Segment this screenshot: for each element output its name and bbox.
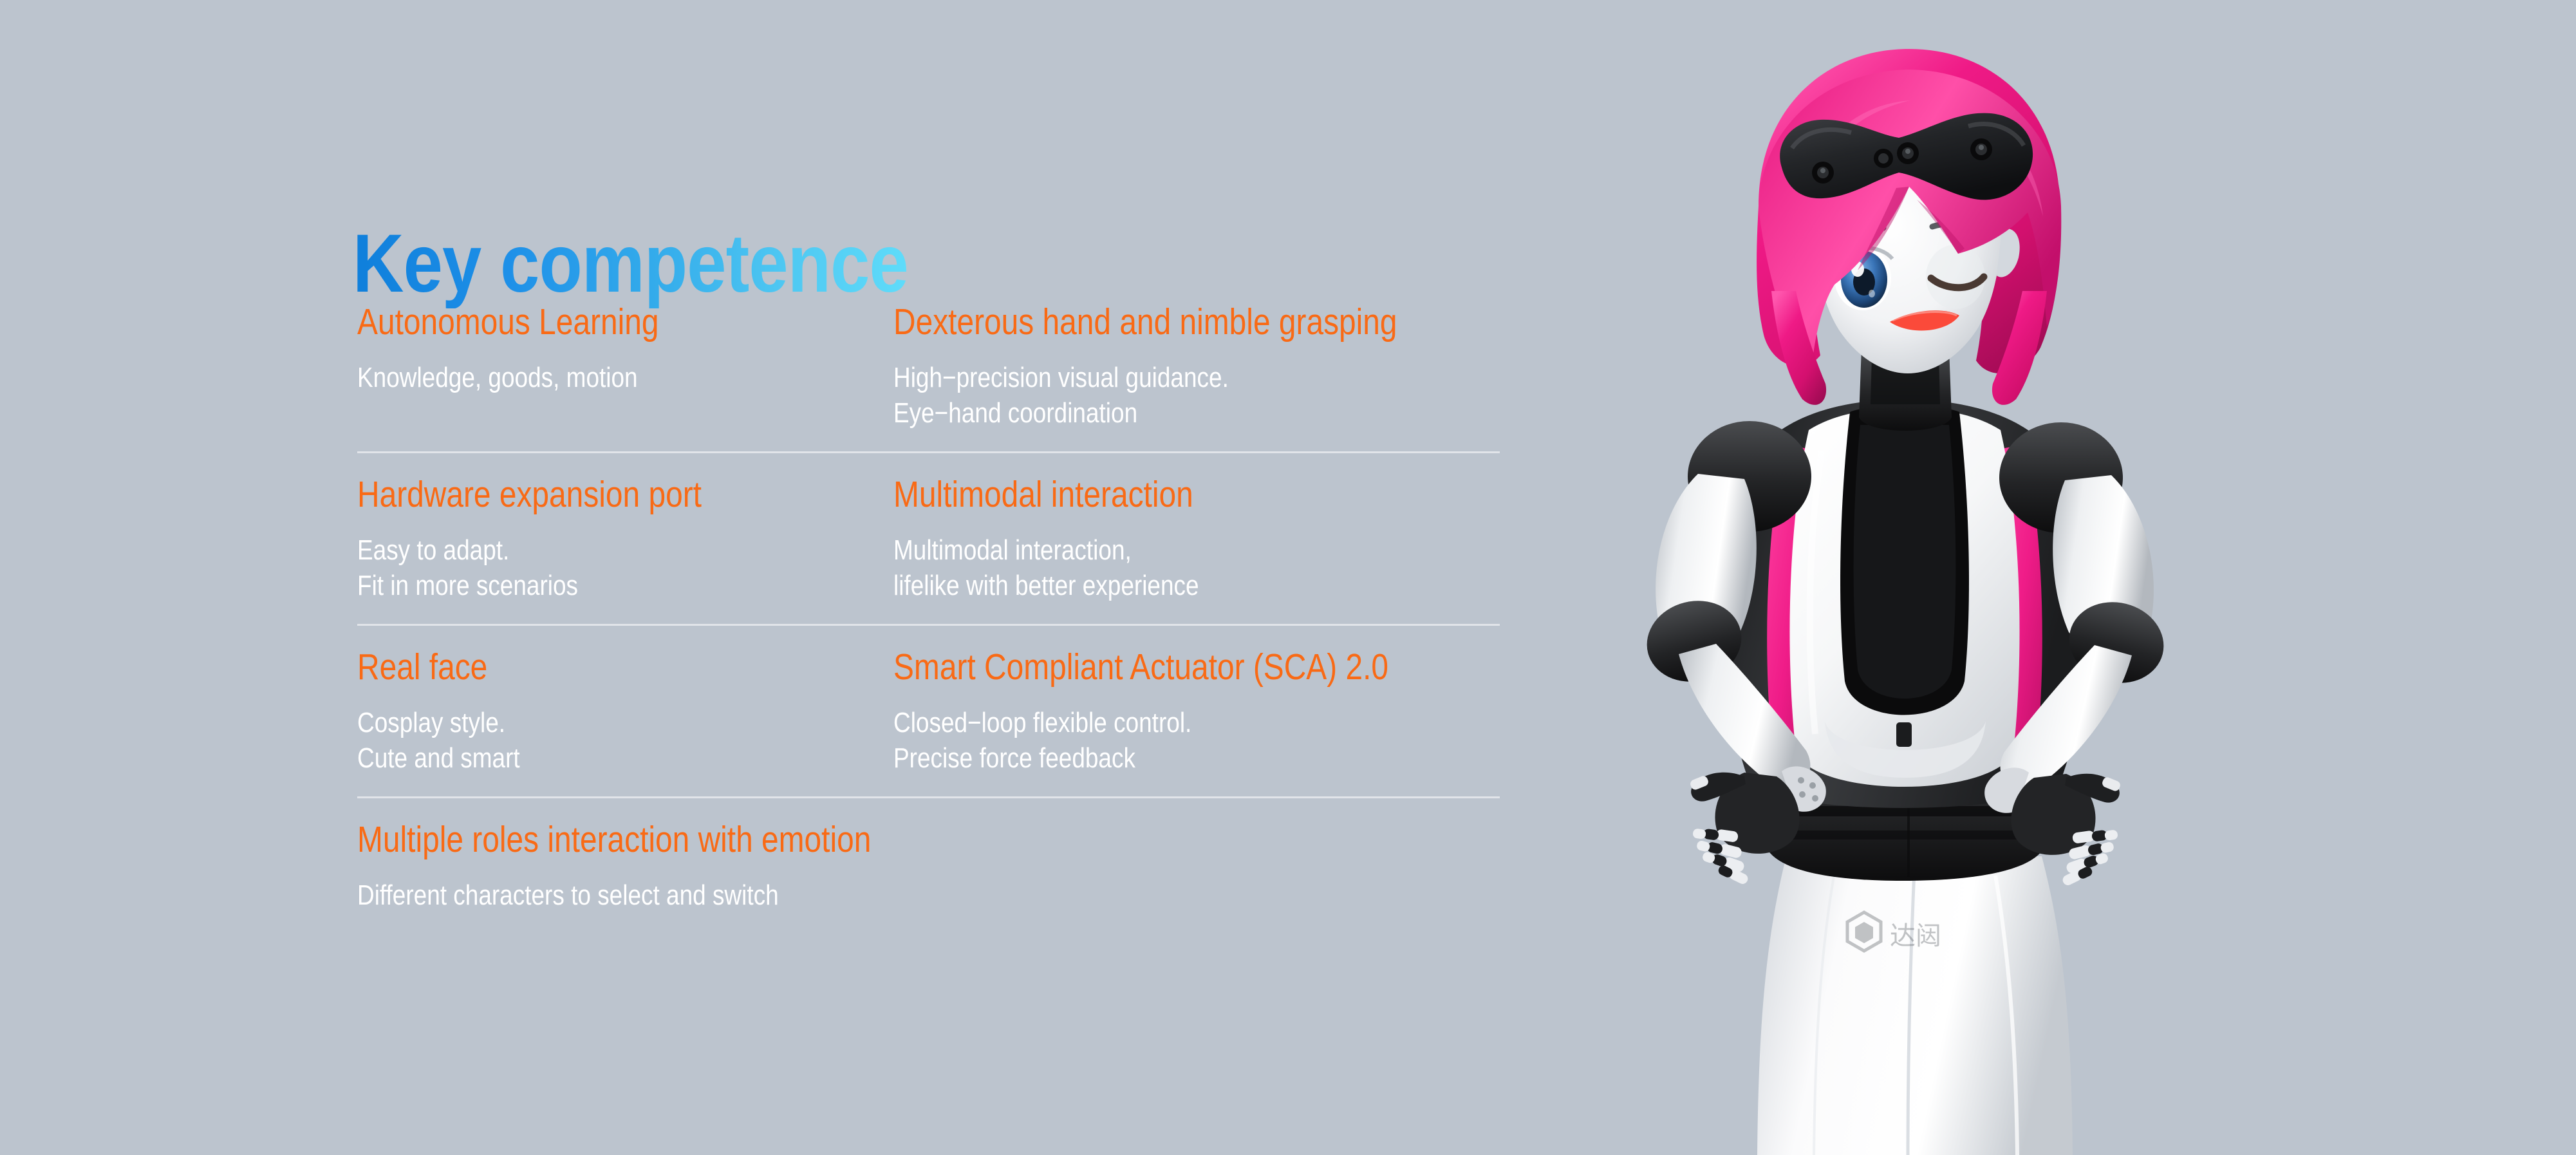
robot-eye-wink: [1926, 245, 1985, 309]
robot-illustration: 达闼: [1532, 0, 2291, 1155]
robot-legs: [1757, 856, 2073, 1155]
feature-body: High−precision visual guidance. Eye−hand…: [893, 360, 1333, 431]
feature-heading: Autonomous Learning: [357, 304, 797, 341]
feature-row: Real face Cosplay style. Cute and smart …: [357, 626, 1500, 798]
feature-body-line: Precise force feedback: [893, 740, 1333, 776]
feature-body: Easy to adapt. Fit in more scenarios: [357, 532, 797, 604]
feature-heading: Multimodal interaction: [893, 476, 1333, 513]
feature-row: Multiple roles interaction with emotion …: [357, 798, 1500, 935]
feature-body-line: Cosplay style.: [357, 705, 797, 740]
feature-card-dexterous-hand[interactable]: Dexterous hand and nimble grasping High−…: [893, 304, 1430, 431]
feature-body: Knowledge, goods, motion: [357, 360, 797, 395]
feature-body-line: lifelike with better experience: [893, 568, 1333, 603]
feature-heading: Multiple roles interaction with emotion: [357, 822, 1265, 858]
feature-row: Hardware expansion port Easy to adapt. F…: [357, 453, 1500, 626]
feature-body: Closed−loop flexible control. Precise fo…: [893, 705, 1333, 776]
feature-body-line: Cute and smart: [357, 740, 797, 776]
feature-card-hardware-expansion-port[interactable]: Hardware expansion port Easy to adapt. F…: [357, 476, 893, 604]
feature-heading: Hardware expansion port: [357, 476, 797, 513]
feature-card-smart-compliant-actuator[interactable]: Smart Compliant Actuator (SCA) 2.0 Close…: [893, 649, 1430, 776]
feature-body: Cosplay style. Cute and smart: [357, 705, 797, 776]
slide-canvas: Key competence Autonomous Learning Knowl…: [0, 0, 2576, 1155]
feature-heading: Dexterous hand and nimble grasping: [893, 304, 1333, 341]
page-title: Key competence: [353, 220, 908, 308]
feature-body-line: High−precision visual guidance.: [893, 360, 1333, 395]
feature-body-line: Different characters to select and switc…: [357, 878, 1265, 913]
feature-card-real-face[interactable]: Real face Cosplay style. Cute and smart: [357, 649, 893, 776]
feature-body-line: Easy to adapt.: [357, 532, 797, 568]
feature-card-autonomous-learning[interactable]: Autonomous Learning Knowledge, goods, mo…: [357, 304, 893, 431]
feature-body-line: Multimodal interaction,: [893, 532, 1333, 568]
feature-grid: Autonomous Learning Knowledge, goods, mo…: [357, 304, 1500, 935]
feature-body-line: Eye−hand coordination: [893, 395, 1333, 431]
feature-card-multimodal-interaction[interactable]: Multimodal interaction Multimodal intera…: [893, 476, 1430, 604]
brand-logo-text: 达闼: [1890, 922, 1941, 950]
feature-body: Different characters to select and switc…: [357, 878, 1265, 913]
feature-body-line: Fit in more scenarios: [357, 568, 797, 603]
feature-heading: Real face: [357, 649, 797, 686]
robot-head: [1757, 49, 2061, 405]
feature-heading: Smart Compliant Actuator (SCA) 2.0: [893, 649, 1333, 686]
feature-body-line: Knowledge, goods, motion: [357, 360, 797, 395]
feature-row: Autonomous Learning Knowledge, goods, mo…: [357, 304, 1500, 453]
feature-card-multiple-roles-interaction[interactable]: Multiple roles interaction with emotion …: [357, 822, 1451, 913]
feature-body: Multimodal interaction, lifelike with be…: [893, 532, 1333, 604]
feature-body-line: Closed−loop flexible control.: [893, 705, 1333, 740]
